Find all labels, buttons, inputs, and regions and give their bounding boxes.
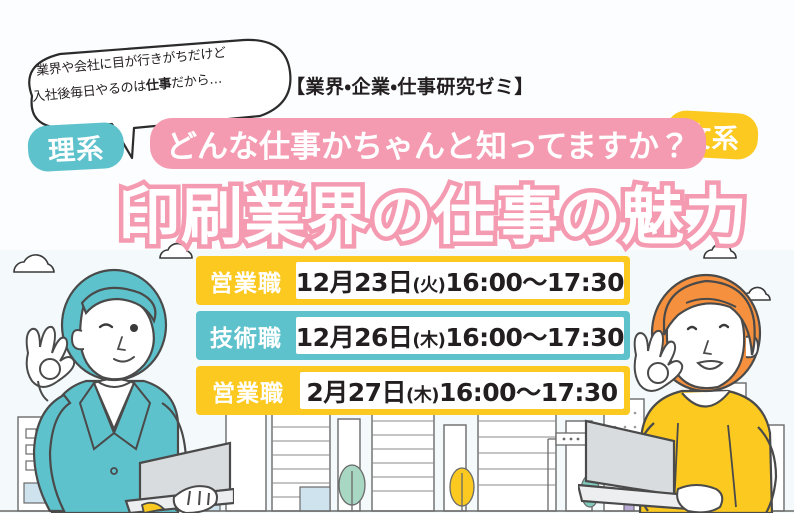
schedule-row[interactable]: 技術職 12月26日(木)16:00〜17:30 — [196, 311, 630, 360]
schedule-date-text: 2月27日(木)16:00〜17:30 — [306, 373, 617, 409]
schedule-row[interactable]: 営業職 2月27日(木)16:00〜17:30 — [196, 366, 630, 415]
schedule-role-badge: 技術職 — [196, 311, 296, 360]
schedule-list: 営業職 12月23日(火)16:00〜17:30 技術職 12月26日(木)16… — [196, 256, 630, 415]
schedule-date-text: 12月26日(木)16:00〜17:30 — [296, 318, 624, 354]
schedule-role-badge: 営業職 — [196, 366, 300, 415]
schedule-date-field: 12月26日(木)16:00〜17:30 — [296, 317, 624, 354]
bubble-line-2-strong: 仕事 — [145, 77, 172, 94]
schedule-date-field: 2月27日(木)16:00〜17:30 — [300, 372, 624, 409]
speech-bubble: 業界や会社に目が行きがちだけど 入社後毎日やるのは仕事だから… — [14, 38, 292, 118]
schedule-date-field: 12月23日(火)16:00〜17:30 — [296, 262, 624, 299]
kicker-text: 【業界・企業・仕事研究ゼミ】 — [286, 72, 534, 99]
schedule-date-text: 12月23日(火)16:00〜17:30 — [296, 263, 624, 299]
seminar-banner: 業界や会社に目が行きがちだけど 入社後毎日やるのは仕事だから… 【業界・企業・仕… — [0, 0, 794, 513]
schedule-role-badge: 営業職 — [196, 256, 296, 305]
subtitle-text: どんな仕事かちゃんと知ってますか？ — [150, 118, 706, 169]
tag-science: 理系 — [27, 122, 125, 173]
page-title: 印刷業界の仕事の魅力 — [118, 166, 748, 256]
schedule-row[interactable]: 営業職 12月23日(火)16:00〜17:30 — [196, 256, 630, 305]
